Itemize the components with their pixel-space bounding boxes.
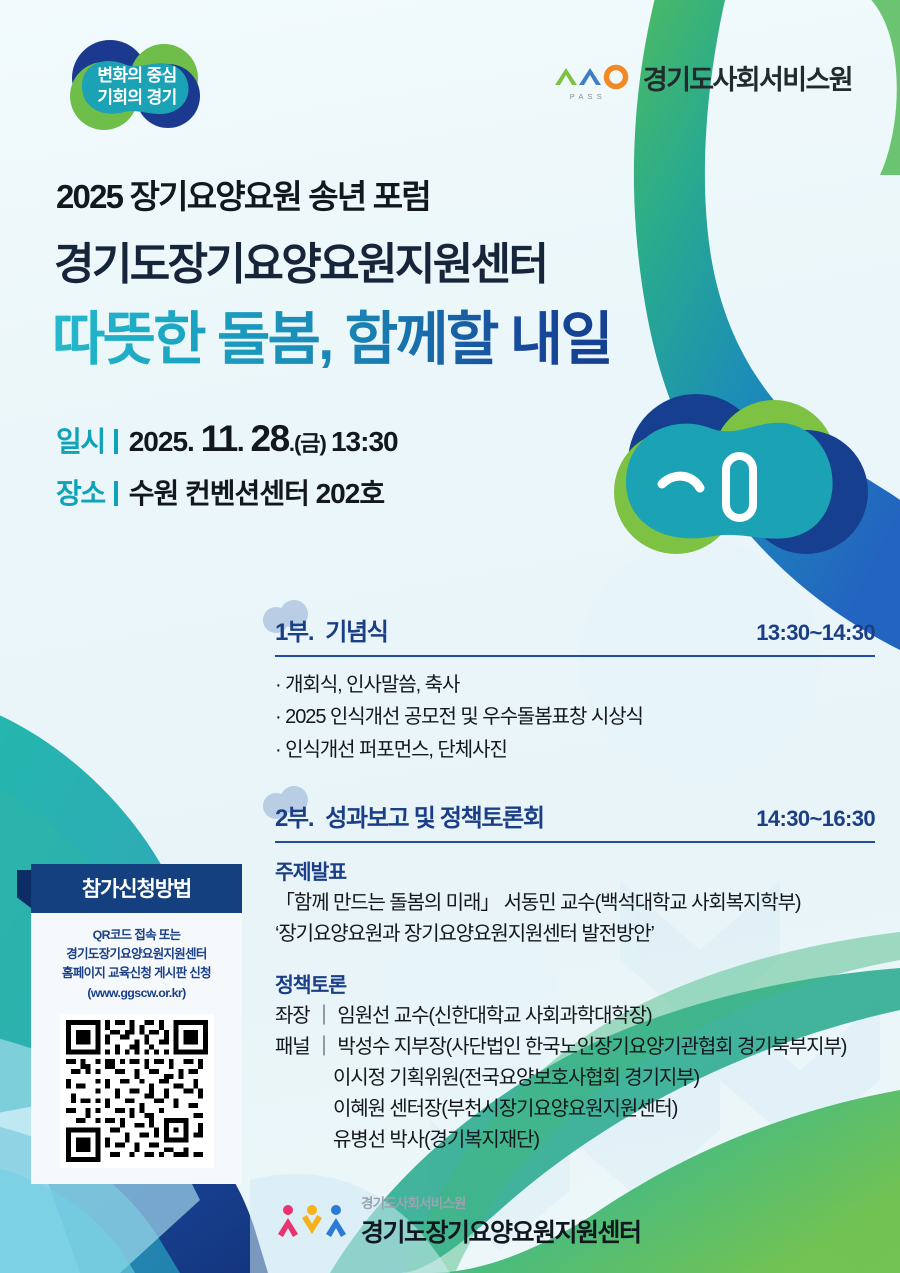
ribbon-fold — [17, 870, 31, 908]
program-schedule: 1부.기념식 13:30~14:30 · 개회식, 인사말씀, 축사 · 202… — [275, 612, 875, 1156]
poster-title-hero: 따뜻한 돌봄, 함께할 내일 — [52, 292, 611, 376]
place-value: 수원 컨벤션센터 202호 — [129, 472, 384, 512]
registration-body: QR코드 접속 또는 경기도장기요양요원지원센터 홈페이지 교육신청 게시판 신… — [31, 913, 242, 1184]
keynote-line-1: 「함께 만드는 돌봄의 미래」 서동민 교수(백석대학교 사회복지학부) — [275, 888, 875, 919]
debate-chair-line: 좌장 ｜ 임원선 교수(신한대학교 사회과학대학장) — [275, 1001, 875, 1032]
registration-line-2: 경기도장기요양요원지원센터 — [41, 945, 232, 964]
footer-supertitle: 경기도사회서비스원 — [361, 1192, 641, 1212]
part1-header: 1부.기념식 13:30~14:30 — [275, 612, 875, 657]
date-day: 28 — [250, 418, 288, 459]
footer-logo: 경기도사회서비스원 경기도장기요양요원지원센터 — [277, 1192, 641, 1249]
gyeonggi-logo-text: 변화의 중심 기회의 경기 — [52, 38, 222, 134]
registration-ribbon: 참가신청방법 — [31, 864, 242, 913]
pass-chevrons-icon — [552, 59, 630, 93]
registration-line-1: QR코드 접속 또는 — [41, 926, 232, 945]
part1-bullet-3: · 인식개선 퍼포먼스, 단체사진 — [275, 734, 875, 766]
part1-bullet-1: · 개회식, 인사말씀, 축사 — [275, 669, 875, 701]
date-divider — [114, 429, 118, 454]
footer-title: 경기도장기요양요원지원센터 — [361, 1213, 641, 1249]
place-divider — [114, 481, 118, 506]
qr-code-icon — [66, 1020, 208, 1162]
date-weekday: .(금) — [289, 431, 331, 456]
program-section-part2: 2부.성과보고 및 정책토론회 14:30~16:30 주제발표 「함께 만드는… — [275, 798, 875, 1156]
footer-text: 경기도사회서비스원 경기도장기요양요원지원센터 — [361, 1192, 641, 1249]
date-month: 11 — [201, 418, 237, 459]
keynote-line-2: ‘장기요양요원과 장기요양요원지원센터 발전방안’ — [275, 919, 875, 950]
part1-body: · 개회식, 인사말씀, 축사 · 2025 인식개선 공모전 및 우수돌봄표창… — [275, 657, 875, 766]
debate-panel-line-2: 이시정 기획위원(전국요양보호사협회 경기지부) — [275, 1063, 875, 1094]
part1-bullet-2: · 2025 인식개선 공모전 및 우수돌봄표창 시상식 — [275, 701, 875, 733]
date-value: 2025. 11. 28.(금) 13:30 — [129, 418, 398, 460]
poster-kicker: 2025 장기요양요원 송년 포럼 — [56, 170, 430, 218]
date-time: 13:30 — [331, 426, 398, 457]
registration-line-3: 홈페이지 교육신청 게시판 신청 — [41, 964, 232, 983]
debate-panel-line: 패널 ｜ 박성수 지부장(사단법인 한국노인장기요양기관협회 경기북부지부) — [275, 1032, 875, 1063]
agency-logo: PASS 경기도사회서비스원 — [552, 58, 852, 97]
registration-card: 참가신청방법 QR코드 접속 또는 경기도장기요양요원지원센터 홈페이지 교육신… — [31, 864, 242, 1184]
part2-time: 14:30~16:30 — [756, 806, 875, 832]
pass-wordmark: PASS — [549, 92, 627, 101]
poster-root: 변화의 중심 기회의 경기 PASS 경기도사회서비스원 2025 장기요양요원… — [0, 0, 900, 1273]
date-label: 일시 — [56, 420, 105, 460]
debate-heading: 정책토론 — [275, 968, 875, 998]
poster-title-main: 경기도장기요양요원지원센터 — [54, 228, 546, 292]
pass-mark: PASS — [552, 59, 630, 97]
three-people-icon — [277, 1201, 347, 1241]
part2-number: 2부. — [275, 805, 313, 832]
gyeonggi-brand-logo: 변화의 중심 기회의 경기 — [52, 38, 222, 134]
event-date-row: 일시 2025. 11. 28.(금) 13:30 — [56, 418, 398, 460]
keynote-heading: 주제발표 — [275, 855, 875, 885]
registration-heading: 참가신청방법 — [31, 864, 242, 913]
part2-name: 성과보고 및 정책토론회 — [325, 805, 544, 832]
place-label: 장소 — [56, 472, 105, 512]
date-year: 2025. — [129, 426, 201, 457]
gg-logo-line-1: 변화의 중심 — [97, 65, 176, 87]
gg-logo-line-2: 기회의 경기 — [97, 87, 176, 109]
part1-title: 1부.기념식 — [275, 612, 388, 647]
debate-panel-line-4: 유병선 박사(경기복지재단) — [275, 1125, 875, 1156]
part2-header: 2부.성과보고 및 정책토론회 14:30~16:30 — [275, 798, 875, 843]
part2-title: 2부.성과보고 및 정책토론회 — [275, 798, 544, 833]
part2-body: 주제발표 「함께 만드는 돌봄의 미래」 서동민 교수(백석대학교 사회복지학부… — [275, 843, 875, 1156]
debate-panel-line-3: 이혜원 센터장(부천시장기요양요원지원센터) — [275, 1094, 875, 1125]
brand-mascot-illustration — [578, 384, 888, 574]
qr-code[interactable] — [60, 1014, 214, 1168]
date-sep: . — [237, 426, 251, 457]
program-section-part1: 1부.기념식 13:30~14:30 · 개회식, 인사말씀, 축사 · 202… — [275, 612, 875, 766]
registration-line-4: (www.ggscw.or.kr) — [41, 984, 232, 1003]
part1-name: 기념식 — [325, 619, 387, 646]
part1-number: 1부. — [275, 619, 313, 646]
part1-time: 13:30~14:30 — [756, 620, 875, 646]
agency-name: 경기도사회서비스원 — [643, 58, 852, 97]
event-place-row: 장소 수원 컨벤션센터 202호 — [56, 472, 384, 512]
